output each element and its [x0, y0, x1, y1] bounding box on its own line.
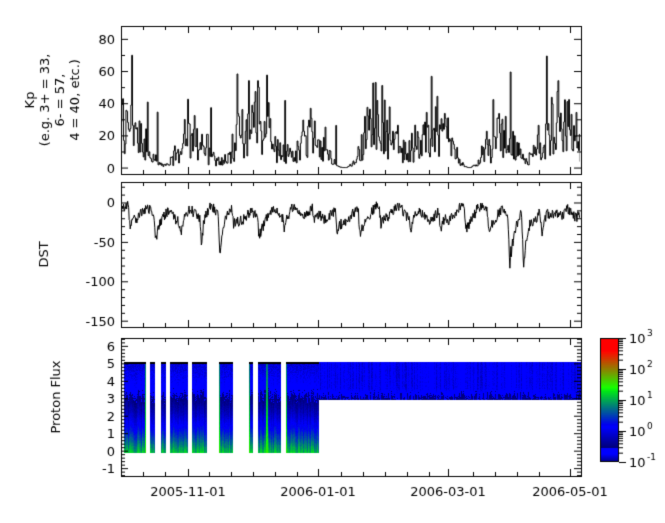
plot-surface: [0, 0, 665, 523]
figure-canvas: [0, 0, 665, 523]
